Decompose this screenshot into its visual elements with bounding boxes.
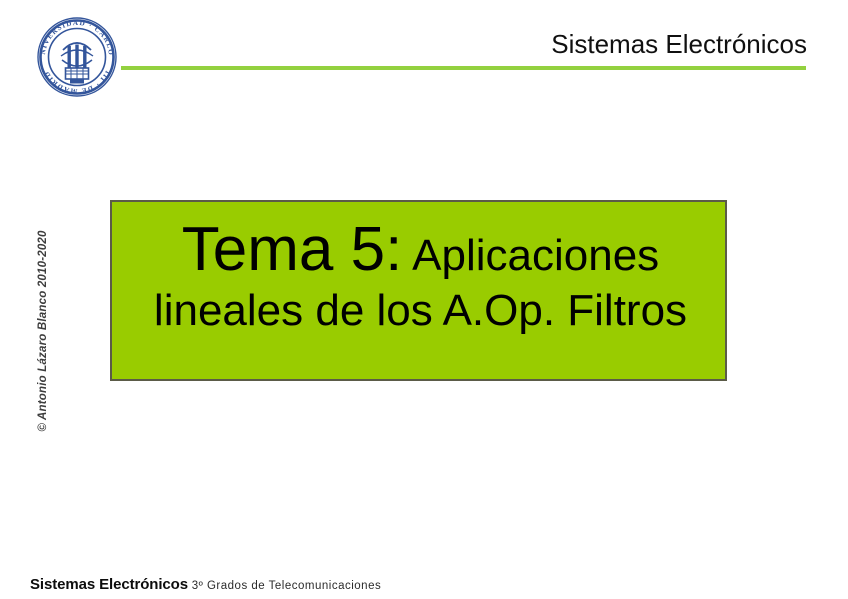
slide-title-line-2: lineales de los A.Op. Filtros [118, 284, 723, 338]
slide-canvas: UNIVERSIDAD · CARLOS III · DE MADRID [0, 0, 848, 599]
page-title: Sistemas Electrónicos [0, 29, 807, 59]
topic-colon: : [385, 215, 402, 284]
slide-title-box: Tema 5: Aplicaciones lineales de los A.O… [110, 200, 727, 381]
slide-title-line-1: Tema 5: Aplicaciones [118, 222, 723, 284]
author-credit-label: © Antonio Lázaro Blanco 2010-2020 [37, 230, 49, 431]
footer-course-label: Sistemas Electrónicos [30, 576, 188, 593]
topic-subject-part-1: Aplicaciones [402, 231, 659, 280]
footer-program-label: 3º Grados de Telecomunicaciones [192, 580, 382, 592]
header-divider [121, 66, 806, 70]
author-credit-vertical: © Antonio Lázaro Blanco 2010-2020 [36, 245, 50, 417]
slide-footer: Sistemas Electrónicos 3º Grados de Telec… [30, 576, 381, 594]
slide-title-text: Tema 5: Aplicaciones lineales de los A.O… [112, 222, 729, 338]
topic-number-label: Tema 5 [182, 215, 385, 284]
